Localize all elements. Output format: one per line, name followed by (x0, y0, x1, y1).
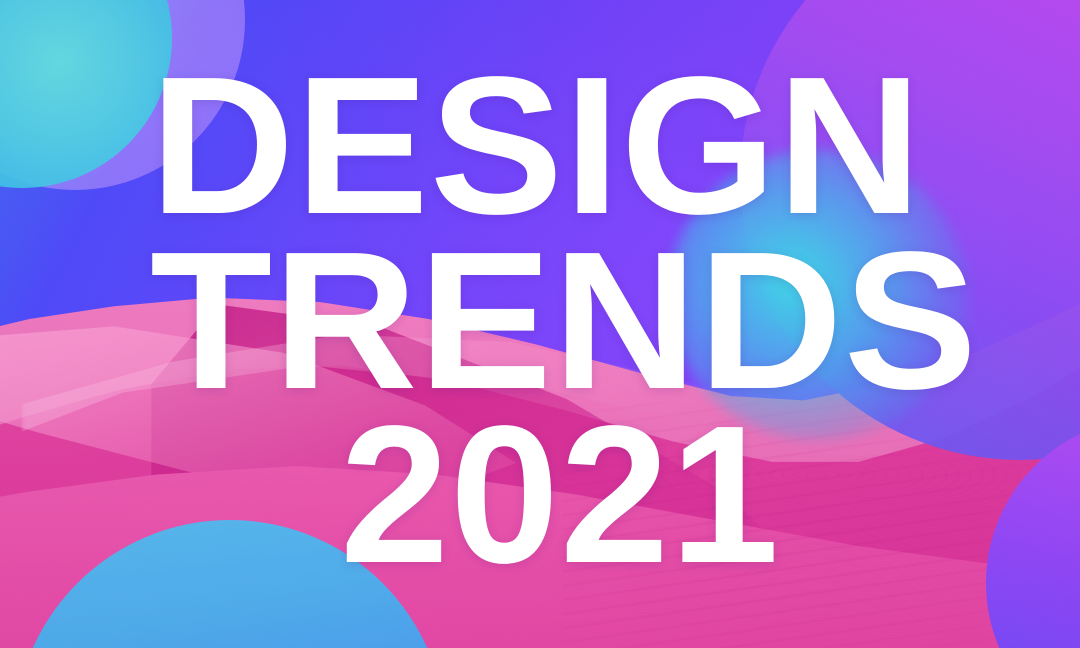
design-trends-poster: DESIGN TRENDS 2021 (0, 0, 1080, 648)
glow-cyan-center-right (668, 150, 968, 440)
